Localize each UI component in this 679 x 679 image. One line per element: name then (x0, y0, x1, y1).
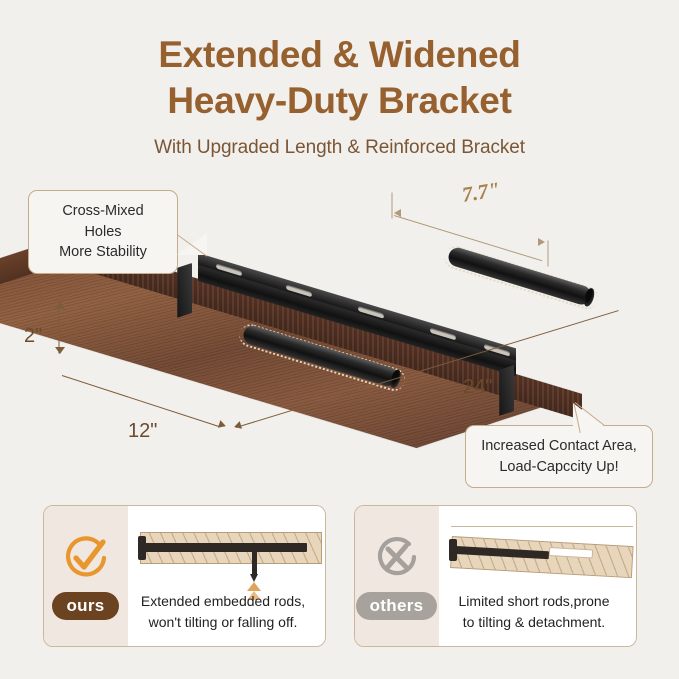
ours-icon-column: ours (44, 506, 128, 646)
dimension-width: 24" (463, 376, 492, 399)
arrow-thickness-up (55, 302, 65, 309)
others-icon-column: others (355, 506, 439, 646)
callout-1-line-1: Cross-Mixed Holes (43, 201, 163, 242)
dimension-tick-rod-start (392, 193, 393, 219)
x-circle-icon (371, 532, 423, 589)
others-diagram-column: Limited short rods,prone to tilting & de… (439, 506, 636, 646)
ours-screw-tip (250, 574, 258, 582)
comparison-panel-others: others Limited short rods,prone to tilti… (354, 505, 637, 647)
ours-text-line-2: won't tilting or falling off. (128, 612, 319, 632)
badge-others: others (356, 592, 438, 620)
bracket-end-plate-right (499, 365, 514, 416)
others-text-line-1: Limited short rods,prone (439, 591, 630, 611)
ours-force-arrow-upper (247, 582, 261, 591)
title-line-1: Extended & Widened (0, 32, 679, 78)
dimension-depth: 12" (128, 420, 157, 443)
others-text-line-2: to tilting & detachment. (439, 612, 630, 632)
dimension-tick-rod-end (548, 241, 549, 267)
comparison-section: ours Extended embedded rods, won't tilti… (0, 505, 679, 660)
dimension-rod-length: 7.7" (460, 177, 501, 208)
header: Extended & Widened Heavy-Duty Bracket Wi… (0, 0, 679, 159)
others-description: Limited short rods,prone to tilting & de… (439, 591, 630, 632)
callout-2-line-2: Load-Capccity Up! (480, 457, 638, 478)
check-circle-icon (60, 532, 112, 589)
ours-cross-section-diagram (134, 522, 326, 580)
ours-diagram-column: Extended embedded rods, won't tilting or… (128, 506, 325, 646)
arrow-rod-left (394, 209, 401, 217)
title-line-2: Heavy-Duty Bracket (0, 78, 679, 124)
subtitle: With Upgraded Length & Reinforced Bracke… (0, 137, 679, 159)
others-cross-section-diagram (445, 522, 637, 580)
callout-1-line-2: More Stability (43, 242, 163, 263)
arrow-thickness-down (55, 347, 65, 354)
others-reference-line (451, 526, 633, 527)
badge-ours: ours (52, 592, 118, 620)
callout-increased-contact-area: Increased Contact Area, Load-Capccity Up… (465, 425, 653, 488)
callout-cross-mixed-holes: Cross-Mixed Holes More Stability (28, 190, 178, 274)
comparison-panel-ours: ours Extended embedded rods, won't tilti… (43, 505, 326, 647)
ours-description: Extended embedded rods, won't tilting or… (128, 591, 319, 632)
ours-screw-shaft (252, 544, 257, 576)
ours-text-line-1: Extended embedded rods, (128, 591, 319, 611)
dimension-thickness: 2" (24, 325, 42, 348)
callout-2-line-1: Increased Contact Area, (480, 436, 638, 457)
ours-embedded-rod (144, 543, 307, 552)
arrow-rod-right (538, 238, 545, 246)
bracket-end-plate-left (177, 263, 192, 318)
